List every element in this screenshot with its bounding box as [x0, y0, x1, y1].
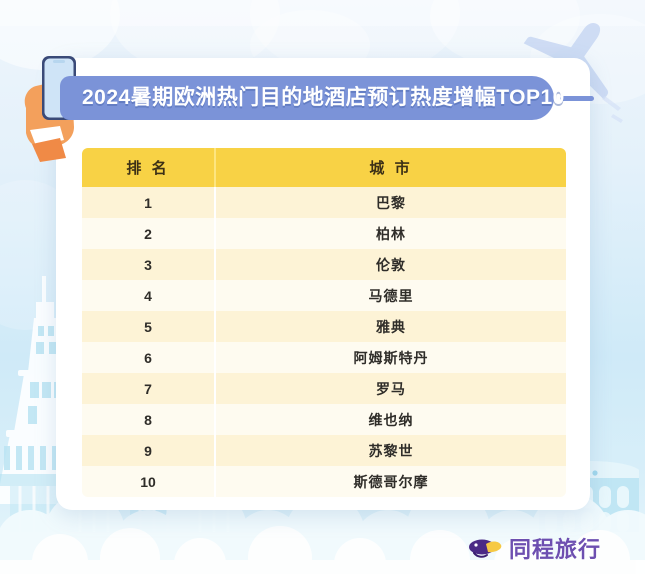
cell-city: 苏黎世 [216, 435, 566, 466]
title-banner: 2024暑期欧洲热门目的地酒店预订热度增幅TOP10 [60, 76, 608, 120]
page-title: 2024暑期欧洲热门目的地酒店预订热度增幅TOP10 [82, 76, 565, 120]
table-row: 3伦敦 [82, 249, 566, 280]
cell-city: 维也纳 [216, 404, 566, 435]
cell-rank: 1 [82, 187, 216, 218]
city-value: 马德里 [369, 286, 414, 306]
table-row: 7罗马 [82, 373, 566, 404]
cell-city: 斯德哥尔摩 [216, 466, 566, 497]
brand-name: 同程旅行 [509, 532, 601, 564]
table-row: 10斯德哥尔摩 [82, 466, 566, 497]
cell-city: 阿姆斯特丹 [216, 342, 566, 373]
cell-city: 伦敦 [216, 249, 566, 280]
cell-rank: 2 [82, 218, 216, 249]
cell-rank: 5 [82, 311, 216, 342]
tongcheng-bird-icon [468, 537, 502, 559]
banner-tail-dash [560, 96, 594, 101]
infographic-canvas: 2024暑期欧洲热门目的地酒店预订热度增幅TOP10 排 名 城 市 1巴黎2柏… [0, 0, 645, 574]
rank-value: 1 [144, 195, 152, 211]
rank-value: 4 [144, 288, 152, 304]
cell-rank: 6 [82, 342, 216, 373]
cell-city: 雅典 [216, 311, 566, 342]
rank-value: 10 [140, 474, 156, 490]
brand-logo: 同程旅行 [468, 532, 601, 564]
cell-rank: 7 [82, 373, 216, 404]
table-row: 5雅典 [82, 311, 566, 342]
column-header-rank: 排 名 [82, 148, 216, 187]
city-value: 罗马 [376, 379, 406, 399]
cell-city: 柏林 [216, 218, 566, 249]
cell-rank: 10 [82, 466, 216, 497]
table-row: 2柏林 [82, 218, 566, 249]
cell-city: 罗马 [216, 373, 566, 404]
rank-value: 2 [144, 226, 152, 242]
city-value: 巴黎 [376, 193, 406, 213]
cell-rank: 3 [82, 249, 216, 280]
rank-value: 3 [144, 257, 152, 273]
table-row: 9苏黎世 [82, 435, 566, 466]
cell-rank: 4 [82, 280, 216, 311]
column-header-city: 城 市 [216, 148, 566, 187]
city-value: 伦敦 [376, 255, 406, 275]
city-value: 维也纳 [369, 410, 414, 430]
rank-value: 5 [144, 319, 152, 335]
table-row: 1巴黎 [82, 187, 566, 218]
table-body: 1巴黎2柏林3伦敦4马德里5雅典6阿姆斯特丹7罗马8维也纳9苏黎世10斯德哥尔摩 [82, 187, 566, 497]
city-value: 苏黎世 [369, 441, 414, 461]
city-value: 柏林 [376, 224, 406, 244]
table-row: 4马德里 [82, 280, 566, 311]
table-header-row: 排 名 城 市 [82, 148, 566, 187]
ranking-table: 排 名 城 市 1巴黎2柏林3伦敦4马德里5雅典6阿姆斯特丹7罗马8维也纳9苏黎… [82, 148, 566, 497]
cell-rank: 8 [82, 404, 216, 435]
table-row: 8维也纳 [82, 404, 566, 435]
city-value: 阿姆斯特丹 [354, 348, 429, 368]
cell-city: 马德里 [216, 280, 566, 311]
rank-value: 6 [144, 350, 152, 366]
city-value: 斯德哥尔摩 [354, 472, 429, 492]
rank-value: 9 [144, 443, 152, 459]
cell-rank: 9 [82, 435, 216, 466]
table-row: 6阿姆斯特丹 [82, 342, 566, 373]
cell-city: 巴黎 [216, 187, 566, 218]
rank-value: 7 [144, 381, 152, 397]
city-value: 雅典 [376, 317, 406, 337]
rank-value: 8 [144, 412, 152, 428]
